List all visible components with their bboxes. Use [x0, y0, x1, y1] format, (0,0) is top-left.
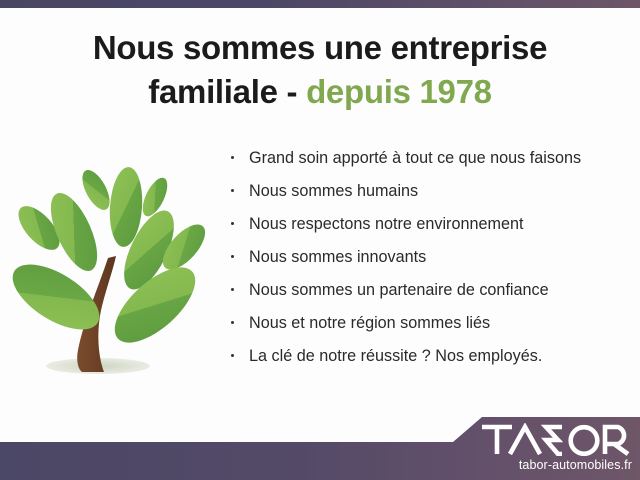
list-item: Nous sommes humains — [228, 181, 628, 201]
list-item-label: La clé de notre réussite ? Nos employés. — [249, 347, 542, 365]
footer-bar: tabor-automobiles.fr — [0, 405, 640, 480]
bullet-dot-icon — [231, 255, 234, 258]
bullet-dot-icon — [231, 288, 234, 291]
list-item-label: Grand soin apporté à tout ce que nous fa… — [249, 149, 581, 167]
bullet-dot-icon — [231, 222, 234, 225]
brand-logo[interactable]: tabor-automobiles.fr — [480, 423, 632, 472]
slide-canvas: Nous sommes une entreprise familiale - d… — [0, 0, 640, 480]
list-item: Nous sommes innovants — [228, 247, 628, 267]
page-title: Nous sommes une entreprise familiale - d… — [0, 26, 640, 113]
bullet-dot-icon — [231, 321, 234, 324]
list-item-label: Nous et notre région sommes liés — [249, 314, 490, 332]
logo-wordmark-tabor — [480, 423, 632, 456]
list-item-label: Nous respectons notre environnement — [249, 215, 523, 233]
list-item: La clé de notre réussite ? Nos employés. — [228, 346, 628, 366]
bullet-dot-icon — [231, 189, 234, 192]
list-item-label: Nous sommes innovants — [249, 248, 426, 266]
list-item: Grand soin apporté à tout ce que nous fa… — [228, 148, 628, 168]
title-accent-year: depuis 1978 — [306, 73, 492, 110]
bullet-dot-icon — [231, 354, 234, 357]
title-line-2: familiale - depuis 1978 — [0, 70, 640, 114]
tree-illustration — [8, 150, 208, 390]
list-item: Nous respectons notre environnement — [228, 214, 628, 234]
title-line-1: Nous sommes une entreprise — [93, 29, 547, 66]
value-list: Grand soin apporté à tout ce que nous fa… — [228, 148, 628, 366]
top-accent-bar — [0, 0, 640, 8]
list-item: Nous et notre région sommes liés — [228, 313, 628, 333]
logo-url-label: tabor-automobiles.fr — [480, 459, 632, 472]
list-item-label: Nous sommes un partenaire de confiance — [249, 281, 549, 299]
title-line-2-plain: familiale - — [148, 73, 306, 110]
list-item: Nous sommes un partenaire de confiance — [228, 280, 628, 300]
list-item-label: Nous sommes humains — [249, 182, 418, 200]
bullet-dot-icon — [231, 156, 234, 159]
